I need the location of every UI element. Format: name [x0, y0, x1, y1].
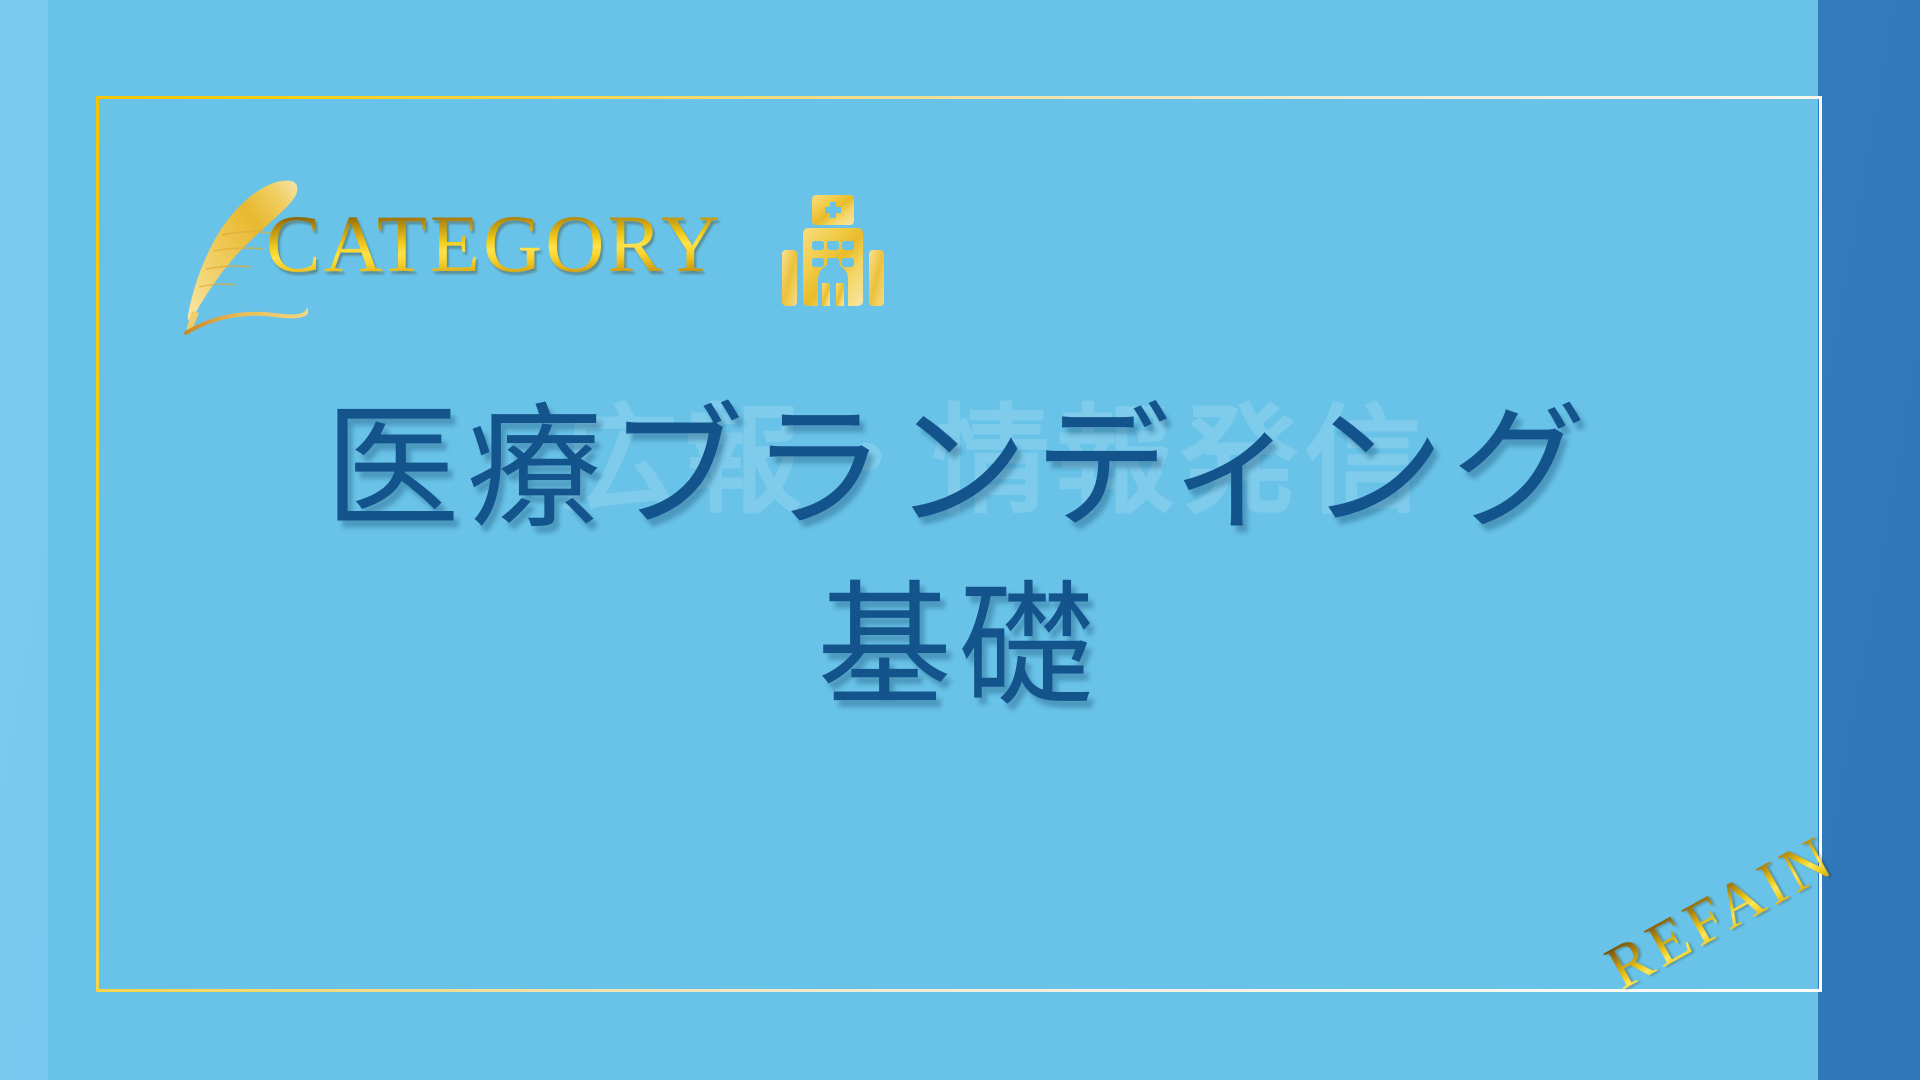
category-header: CATEGORY: [178, 175, 938, 335]
hospital-building-icon: [770, 183, 900, 323]
category-label: CATEGORY: [266, 203, 723, 285]
title-line-1: 医療ブランディング: [96, 380, 1822, 558]
slide-canvas: 広報・情報発信: [0, 0, 1920, 1080]
page-title: 医療ブランディング 基礎: [96, 380, 1822, 736]
title-line-2: 基礎: [96, 558, 1822, 736]
